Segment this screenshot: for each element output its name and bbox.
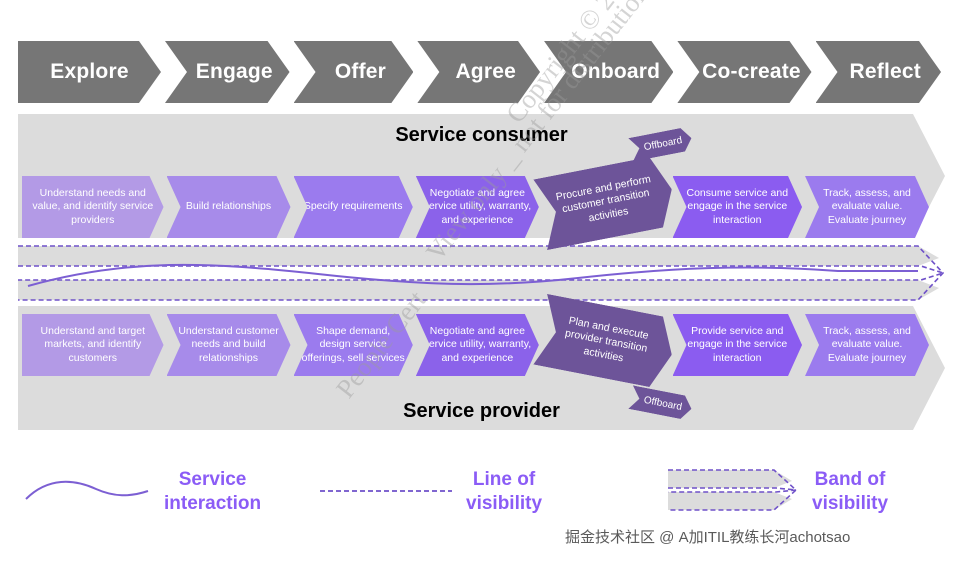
step-label: Build relationships [186, 200, 271, 214]
step-label: Understand needs and value, and identify… [28, 187, 158, 228]
step-label: Provide service and engage in the servic… [679, 325, 797, 366]
consumer-step-7[interactable]: Track, assess, and evaluate value. Evalu… [805, 176, 929, 238]
band-top-gray [18, 246, 939, 266]
step-label: Negotiate and agree service utility, war… [422, 325, 533, 366]
phase-onboard[interactable]: Onboard [544, 41, 673, 103]
phase-label: Engage [196, 60, 273, 84]
consumer-step-4[interactable]: Negotiate and agree service utility, war… [416, 176, 539, 238]
dashed-line-icon [318, 480, 454, 505]
step-label: Shape demand, design service offerings, … [300, 325, 407, 366]
phase-engage[interactable]: Engage [165, 41, 290, 103]
phase-agree[interactable]: Agree [417, 41, 540, 103]
phase-label: Agree [455, 60, 516, 84]
band-arrow-icon [668, 468, 800, 517]
legend-band-of-visibility-label: Band of visibility [812, 468, 888, 516]
step-label: Understand customer needs and build rela… [173, 325, 285, 366]
provider-step-7[interactable]: Track, assess, and evaluate value. Evalu… [805, 314, 929, 376]
wavy-line-icon [22, 473, 152, 512]
service-consumer-title: Service consumer [18, 124, 945, 147]
service-consumer-steps: Understand needs and value, and identify… [22, 176, 932, 238]
step-label: Specify requirements [304, 200, 403, 214]
band-of-visibility [18, 244, 945, 302]
service-provider-title: Service provider [18, 400, 945, 423]
provider-step-2[interactable]: Understand customer needs and build rela… [167, 314, 291, 376]
legend-service-interaction-label: Service interaction [164, 468, 261, 516]
credit-text: 掘金技术社区 @ A加ITIL教练长河achotsao [565, 526, 850, 547]
provider-step-3[interactable]: Shape demand, design service offerings, … [294, 314, 413, 376]
phase-explore[interactable]: Explore [18, 41, 161, 103]
phase-co-create[interactable]: Co-create [677, 41, 811, 103]
provider-step-4[interactable]: Negotiate and agree service utility, war… [416, 314, 539, 376]
legend-band-of-visibility: Band of visibility [668, 462, 888, 522]
step-label: Consume service and engage in the servic… [679, 187, 797, 228]
band-bottom-gray [18, 280, 939, 300]
phase-label: Co-create [702, 60, 801, 84]
provider-step-1[interactable]: Understand and target markets, and ident… [22, 314, 164, 376]
legend-line-of-visibility-label: Line of visibility [466, 468, 542, 516]
legend-service-interaction: Service interaction [22, 462, 261, 522]
service-provider-steps: Understand and target markets, and ident… [22, 314, 932, 376]
phase-label: Explore [50, 60, 128, 84]
consumer-step-2[interactable]: Build relationships [167, 176, 291, 238]
phase-label: Offer [335, 60, 386, 84]
consumer-step-1[interactable]: Understand needs and value, and identify… [22, 176, 164, 238]
step-label: Track, assess, and evaluate value. Evalu… [811, 187, 923, 228]
phase-label: Onboard [571, 60, 660, 84]
consumer-step-6[interactable]: Consume service and engage in the servic… [673, 176, 803, 238]
step-label: Track, assess, and evaluate value. Evalu… [811, 325, 923, 366]
legend-line-of-visibility: Line of visibility [318, 462, 542, 522]
phase-offer[interactable]: Offer [294, 41, 414, 103]
phase-header-row: ExploreEngageOfferAgreeOnboardCo-createR… [18, 41, 945, 103]
phase-label: Reflect [850, 60, 921, 84]
step-label: Negotiate and agree service utility, war… [422, 187, 533, 228]
consumer-step-3[interactable]: Specify requirements [294, 176, 413, 238]
phase-reflect[interactable]: Reflect [816, 41, 942, 103]
provider-step-6[interactable]: Provide service and engage in the servic… [673, 314, 803, 376]
step-label: Understand and target markets, and ident… [28, 325, 158, 366]
